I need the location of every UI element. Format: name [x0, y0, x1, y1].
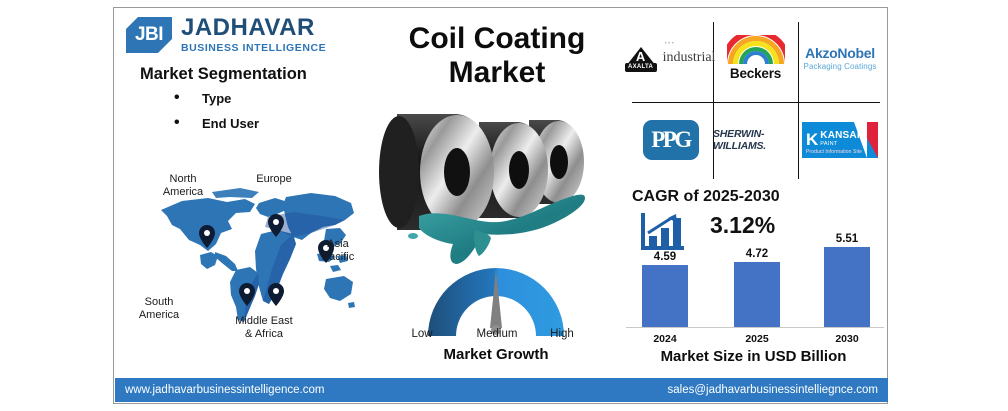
company-logo-ppg: PPG — [628, 102, 713, 177]
sherwin-williams-wordmark: SHERWIN-WILLIAMS. — [713, 128, 798, 152]
bar-rect-2024 — [642, 265, 688, 327]
bar-group-2030: 5.51 — [824, 239, 870, 327]
market-segmentation-list: Type End User — [174, 91, 259, 141]
axalta-dots-icon: ••• — [665, 41, 676, 47]
jbi-logo-mark: JBI — [126, 17, 172, 53]
gauge-caption: Market Growth — [396, 346, 596, 363]
company-logo-axalta: A AXALTA ••• industrial — [628, 14, 713, 102]
akzonobel-subtitle: Packaging Coatings — [804, 62, 877, 71]
brand-wordmark: JADHAVAR BUSINESS INTELLIGENCE — [181, 16, 326, 54]
cagr-value: 3.12% — [710, 212, 775, 239]
cagr-title: CAGR of 2025-2030 — [632, 188, 780, 206]
regional-world-map: North America Europe Asia Pacific South … — [122, 163, 377, 373]
bar-year-2024: 2024 — [642, 333, 688, 345]
footer-bar: www.jadhavarbusinessintelligence.com sal… — [115, 378, 888, 402]
bar-rect-2030 — [824, 247, 870, 327]
gauge-tick-low: Low — [400, 328, 444, 340]
bar-value-2025: 4.72 — [734, 248, 780, 260]
page-title-line1: Coil Coating — [376, 22, 618, 56]
market-growth-gauge: Low Medium High Market Growth — [396, 256, 596, 374]
jbi-logo-text: JBI — [135, 24, 163, 46]
left-column: JBI JADHAVAR BUSINESS INTELLIGENCE Marke… — [114, 8, 376, 376]
map-label-north-america: North America — [150, 173, 216, 199]
footer-website[interactable]: www.jadhavarbusinessintelligence.com — [125, 384, 324, 396]
map-label-south-america: South America — [128, 296, 190, 322]
kansai-k-icon: K — [806, 131, 818, 148]
axalta-industrial-label: industrial — [663, 50, 716, 66]
bar-chart-caption: Market Size in USD Billion — [618, 348, 889, 365]
bar-year-2025: 2025 — [734, 333, 780, 345]
brand-logo: JBI JADHAVAR BUSINESS INTELLIGENCE — [126, 16, 326, 54]
segmentation-item-end-user: End User — [174, 116, 259, 131]
company-logo-beckers: Beckers — [713, 14, 798, 102]
center-column: Coil Coating Market — [376, 8, 618, 376]
brand-name: JADHAVAR — [181, 16, 326, 40]
map-label-middle-east-africa: Middle East & Africa — [234, 315, 294, 341]
footer-email[interactable]: sales@jadhavarbusinessintelliegnce.com — [668, 384, 878, 396]
bar-chart-baseline — [626, 327, 884, 328]
rainbow-icon — [727, 35, 785, 64]
company-logo-akzonobel: AkzoNobel Packaging Coatings — [798, 14, 882, 102]
bar-value-2030: 5.51 — [824, 233, 870, 245]
map-label-europe: Europe — [244, 173, 304, 186]
bar-year-2030: 2030 — [824, 333, 870, 345]
kansai-paint-label: PAINT — [820, 141, 860, 148]
company-logo-kansai-paint: K KANSAI PAINT Product Information Site — [798, 102, 882, 177]
infographic-panel: JBI JADHAVAR BUSINESS INTELLIGENCE Marke… — [113, 7, 888, 404]
bar-group-2025: 4.72 — [734, 254, 780, 327]
gauge-tick-medium: Medium — [469, 328, 525, 340]
bar-group-2024: 4.59 — [642, 257, 688, 327]
company-logo-sherwin-williams: SHERWIN-WILLIAMS. — [713, 102, 798, 177]
brand-tagline: BUSINESS INTELLIGENCE — [181, 43, 326, 54]
akzonobel-wordmark: AkzoNobel — [804, 45, 877, 61]
bar-rect-2025 — [734, 262, 780, 327]
coils-illustration — [379, 96, 615, 264]
segmentation-item-type: Type — [174, 91, 259, 106]
kansai-site-label: Product Information Site — [806, 149, 862, 155]
ppg-wordmark: PPG — [643, 120, 699, 160]
page-title-line2: Market — [376, 56, 618, 90]
beckers-wordmark: Beckers — [727, 66, 785, 81]
axalta-icon: A AXALTA — [626, 45, 656, 71]
steel-coils-image — [379, 96, 615, 264]
page-title: Coil Coating Market — [376, 22, 618, 90]
market-size-bar-chart: 4.59 2024 4.72 2025 5.51 2030 — [626, 240, 884, 345]
bar-value-2024: 4.59 — [642, 251, 688, 263]
key-players-logos: A AXALTA ••• industrial — [628, 14, 882, 177]
right-column: A AXALTA ••• industrial — [618, 8, 889, 376]
map-label-asia-pacific: Asia Pacific — [312, 238, 364, 264]
market-segmentation-title: Market Segmentation — [140, 65, 307, 84]
gauge-tick-high: High — [540, 328, 584, 340]
infographic-canvas: JBI JADHAVAR BUSINESS INTELLIGENCE Marke… — [0, 0, 1008, 411]
kansai-wordmark: KANSAI — [820, 131, 860, 141]
